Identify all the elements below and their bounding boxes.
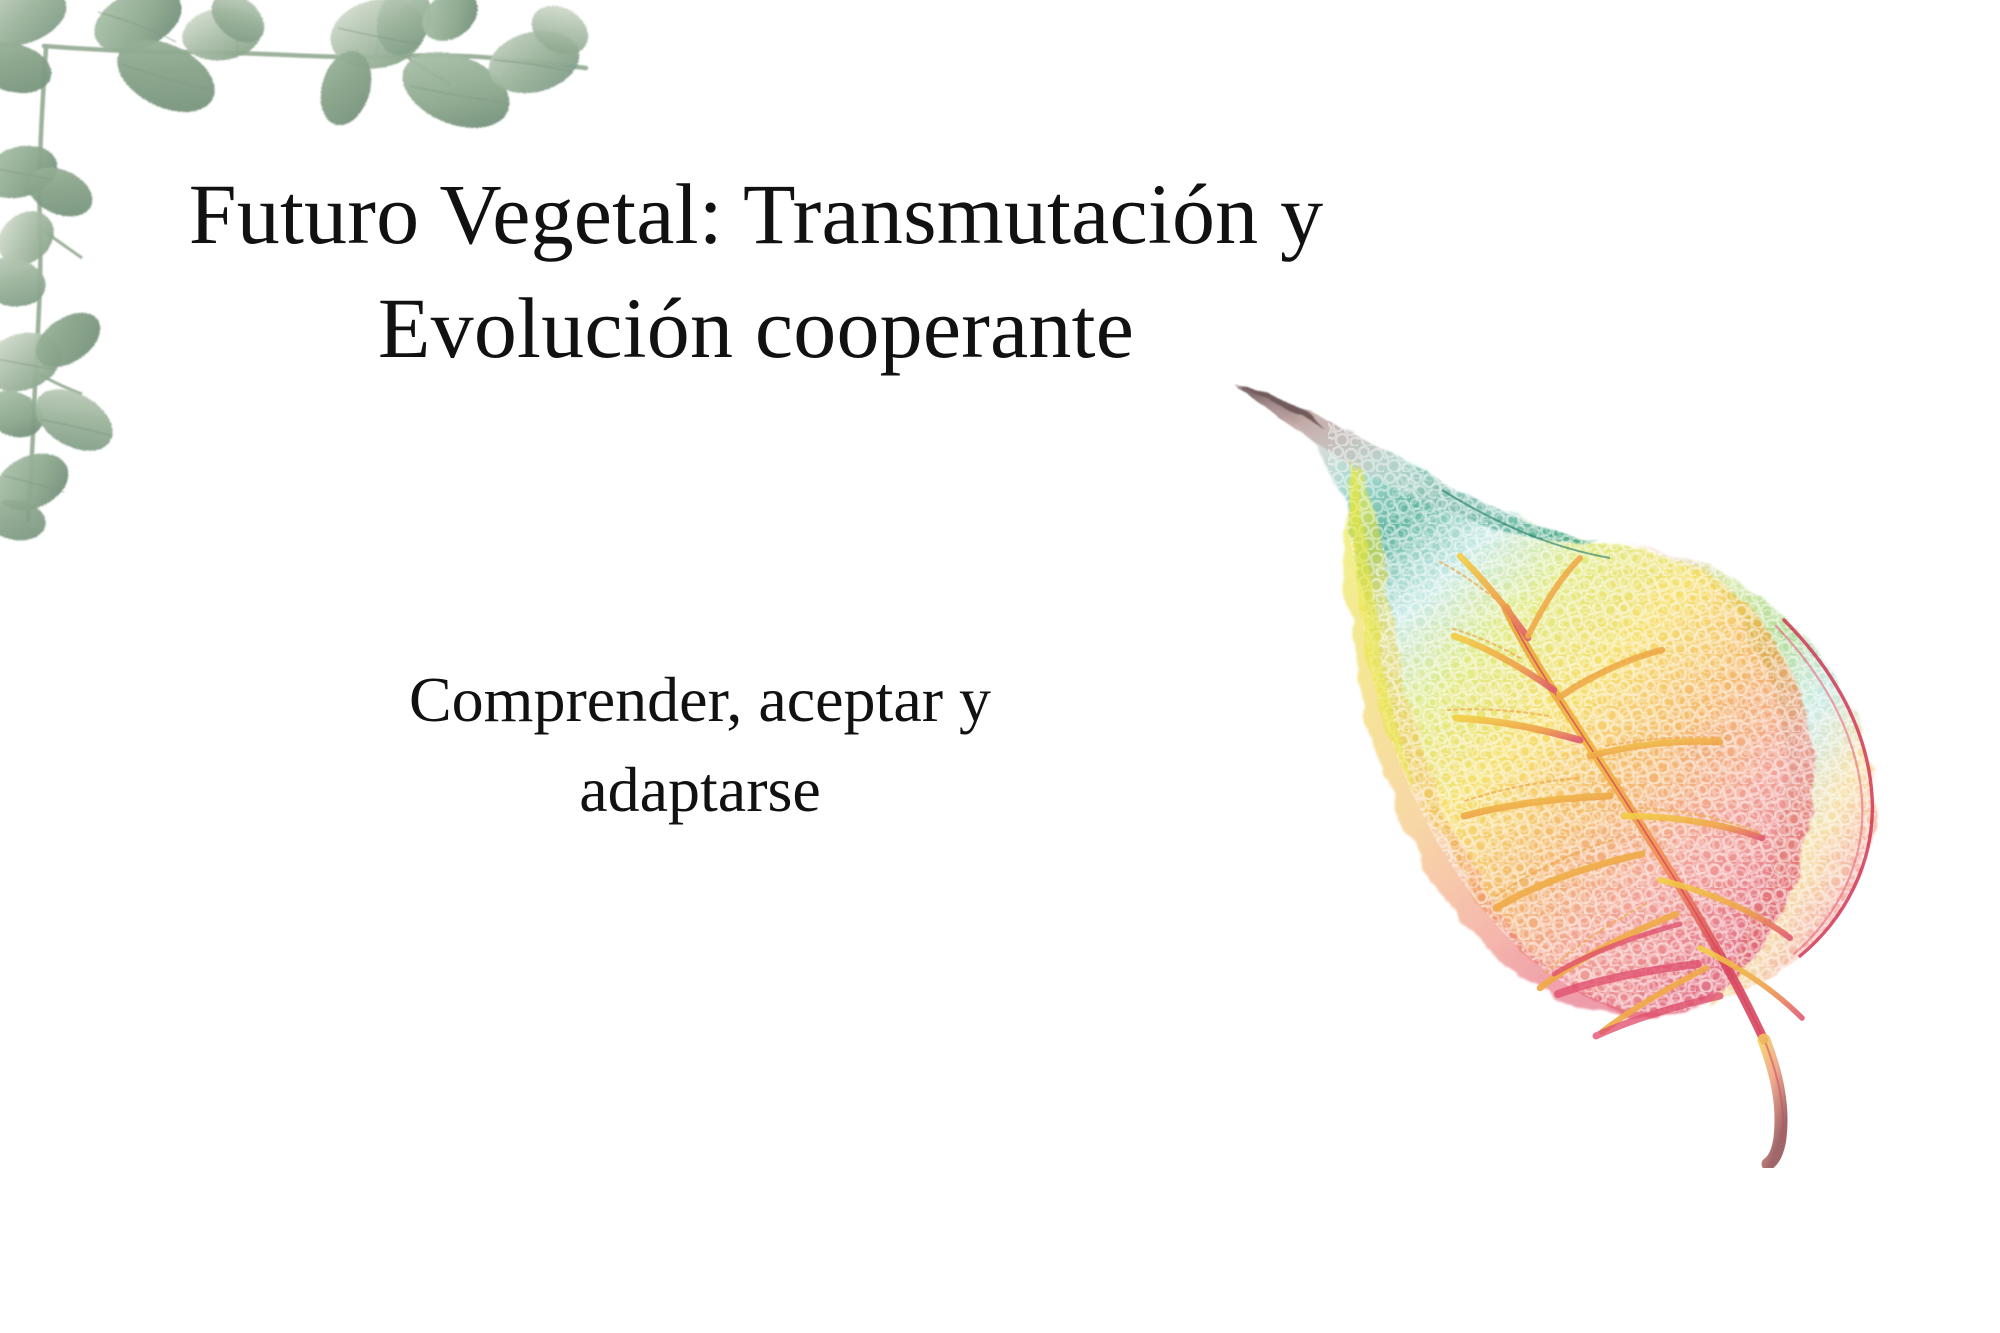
rainbow-watercolor-leaf-icon [1228,368,1968,1168]
title-block: Futuro Vegetal: Transmutación y Evolució… [96,158,1416,385]
page-subtitle: Comprender, aceptar y adaptarse [240,655,1160,834]
subtitle-block: Comprender, aceptar y adaptarse [240,655,1160,834]
page-title: Futuro Vegetal: Transmutación y Evolució… [96,158,1416,385]
slide-canvas: Futuro Vegetal: Transmutación y Evolució… [0,0,2000,1333]
